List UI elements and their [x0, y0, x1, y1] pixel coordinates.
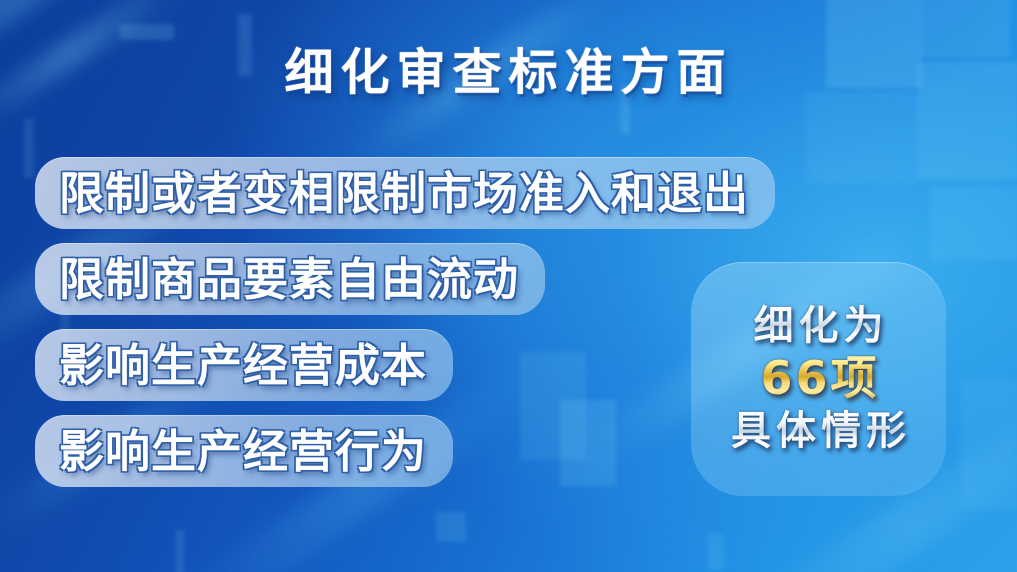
- block-decoration: [708, 534, 724, 570]
- summary-badge: 细化为 66项 具体情形: [691, 262, 946, 496]
- block-decoration: [120, 24, 174, 40]
- list-item[interactable]: 限制或者变相限制市场准入和退出: [35, 157, 775, 229]
- list-item-label: 限制或者变相限制市场准入和退出: [59, 171, 749, 216]
- block-decoration: [436, 512, 466, 542]
- criteria-list: 限制或者变相限制市场准入和退出 限制商品要素自由流动 影响生产经营成本 影响生产…: [35, 157, 775, 501]
- list-item[interactable]: 影响生产经营行为: [35, 415, 453, 487]
- block-decoration: [24, 118, 34, 178]
- page-title: 细化审查标准方面: [0, 48, 1017, 97]
- badge-count-value: 66项: [757, 353, 879, 405]
- list-item[interactable]: 影响生产经营成本: [35, 329, 453, 401]
- block-decoration: [960, 380, 1017, 510]
- badge-prefix-label: 细化为: [749, 304, 889, 349]
- list-item-label: 影响生产经营成本: [59, 343, 427, 388]
- block-decoration: [930, 186, 1017, 260]
- list-item-row: 影响生产经营行为: [35, 415, 775, 501]
- list-item-row: 限制或者变相限制市场准入和退出: [35, 157, 775, 243]
- block-decoration: [176, 530, 184, 572]
- list-item-row: 影响生产经营成本: [35, 329, 775, 415]
- list-item-label: 限制商品要素自由流动: [59, 257, 519, 302]
- badge-suffix-label: 具体情形: [726, 409, 911, 454]
- block-decoration: [806, 92, 920, 184]
- list-item-row: 限制商品要素自由流动: [35, 243, 775, 329]
- list-item[interactable]: 限制商品要素自由流动: [35, 243, 545, 315]
- list-item-label: 影响生产经营行为: [59, 429, 427, 474]
- infographic-slide: 细化审查标准方面 限制或者变相限制市场准入和退出 限制商品要素自由流动 影响生产…: [0, 0, 1017, 572]
